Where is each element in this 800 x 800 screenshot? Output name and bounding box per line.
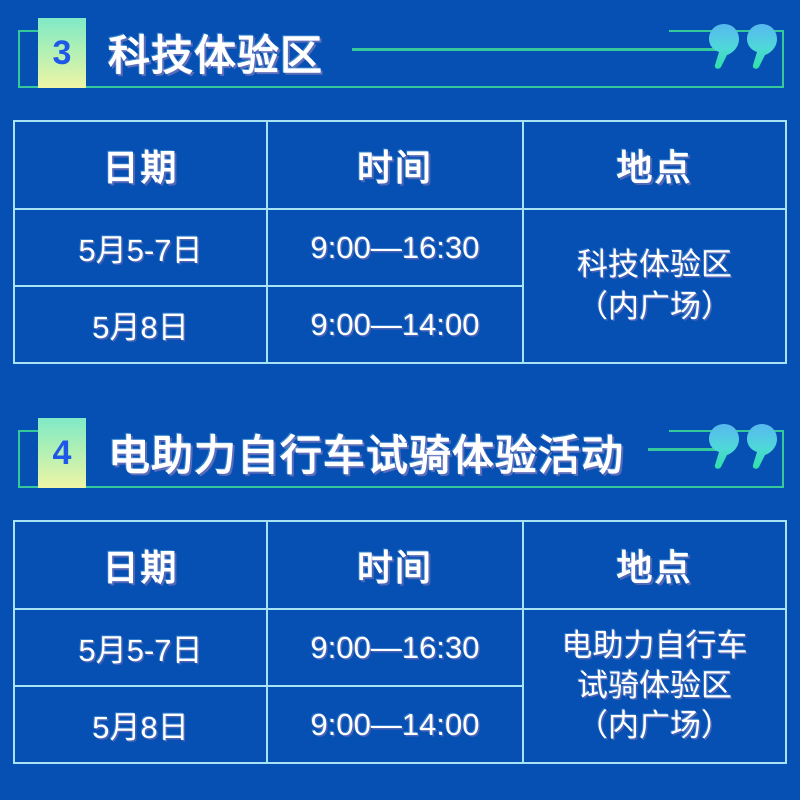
table-row: 5月5-7日 9:00—16:30 电助力自行车 试骑体验区 （内广场） [14, 609, 786, 686]
quotation-marks-group [708, 22, 778, 70]
cell-location: 科技体验区 （内广场） [523, 209, 786, 363]
table-row: 5月5-7日 9:00—16:30 科技体验区 （内广场） [14, 209, 786, 286]
quotation-mark-icon [708, 22, 740, 70]
column-header-location: 地点 [523, 121, 786, 209]
column-header-time: 时间 [267, 121, 523, 209]
section-title: 电助力自行车试骑体验活动 [108, 420, 624, 484]
column-header-date: 日期 [14, 121, 267, 209]
section-number-badge: 3 [38, 18, 86, 88]
location-line: 电助力自行车 [524, 626, 785, 666]
schedule-table-4: 日期 时间 地点 5月5-7日 9:00—16:30 电助力自行车 试骑体验区 … [13, 520, 787, 764]
cell-time: 9:00—14:00 [267, 286, 523, 363]
section-number-label: 4 [53, 436, 72, 470]
location-line: （内广场） [524, 286, 785, 328]
quotation-marks-group [708, 422, 778, 470]
poster-page: 3 科技体验区 [0, 0, 800, 800]
table-header-row: 日期 时间 地点 [14, 121, 786, 209]
quotation-mark-icon [746, 422, 778, 470]
cell-location: 电助力自行车 试骑体验区 （内广场） [523, 609, 786, 763]
column-header-date: 日期 [14, 521, 267, 609]
column-header-time: 时间 [267, 521, 523, 609]
section-title: 科技体验区 [108, 20, 323, 84]
cell-time: 9:00—14:00 [267, 686, 523, 763]
quotation-mark-icon [746, 22, 778, 70]
cell-date: 5月5-7日 [14, 209, 267, 286]
location-line: （内广场） [524, 706, 785, 746]
quotation-mark-icon [708, 422, 740, 470]
section-header-3: 3 科技体验区 [0, 8, 800, 94]
location-line: 科技体验区 [524, 244, 785, 286]
schedule-table-3: 日期 时间 地点 5月5-7日 9:00—16:30 科技体验区 （内广场） 5… [13, 120, 787, 364]
section-number-label: 3 [53, 36, 72, 70]
section-number-badge: 4 [38, 418, 86, 488]
cell-time: 9:00—16:30 [267, 209, 523, 286]
cell-time: 9:00—16:30 [267, 609, 523, 686]
section-title-rule [352, 48, 724, 51]
column-header-location: 地点 [523, 521, 786, 609]
table-header-row: 日期 时间 地点 [14, 521, 786, 609]
cell-date: 5月5-7日 [14, 609, 267, 686]
cell-date: 5月8日 [14, 286, 267, 363]
location-line: 试骑体验区 [524, 666, 785, 706]
section-header-4: 4 电助力自行车试骑体验活动 [0, 408, 800, 494]
cell-date: 5月8日 [14, 686, 267, 763]
